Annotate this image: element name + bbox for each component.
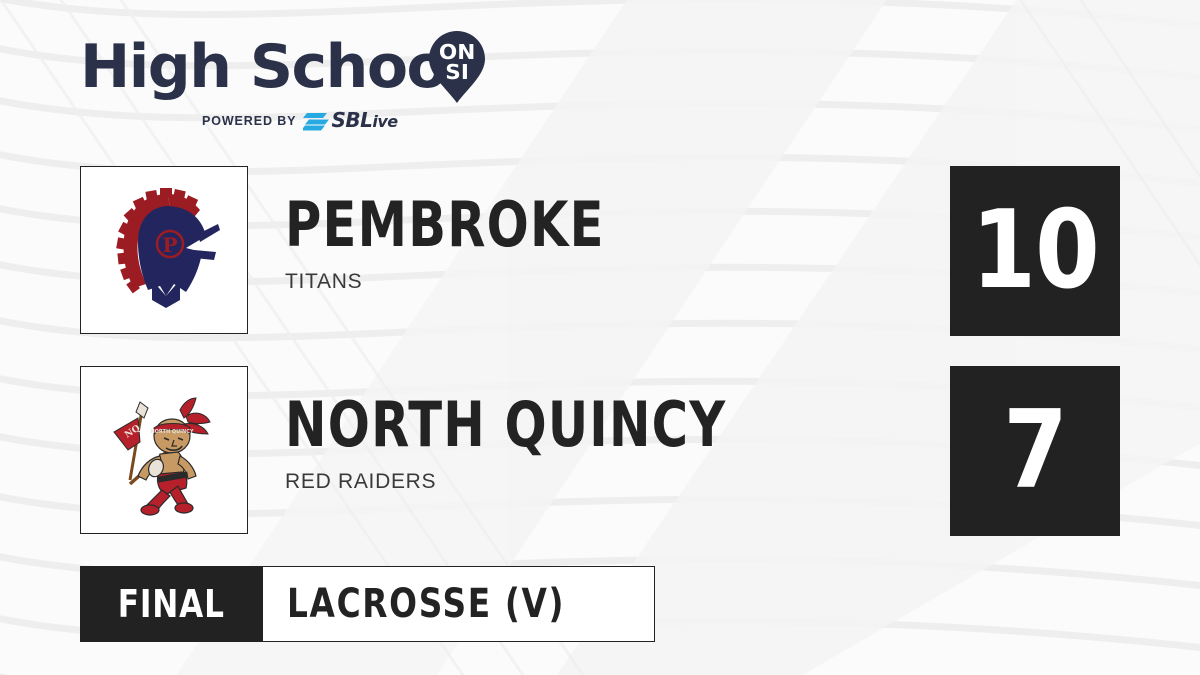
team-score: 10 <box>971 197 1099 305</box>
team-score-box: 10 <box>950 166 1120 336</box>
sblive-logo: SBLive <box>303 110 397 132</box>
team-text-block: PEMBROKE TITANS <box>285 194 925 294</box>
team-logo-box: NQ NORTH QUINCY <box>80 366 248 534</box>
powered-by-row: POWERED BY SBLive <box>202 110 398 132</box>
north-quincy-red-raiders-mascot-logo: NQ NORTH QUINCY <box>94 380 234 520</box>
scoreboard-graphic: High School ON SI POWERED BY SBLive <box>0 0 1200 675</box>
team-name: PEMBROKE <box>285 194 797 256</box>
svg-text:SI: SI <box>445 61 469 84</box>
on-si-pin-icon: ON SI <box>429 31 485 103</box>
sport-label-box: LACROSSE (V) <box>263 566 655 642</box>
team-score-box: 7 <box>950 366 1120 536</box>
sport-label: LACROSSE (V) <box>287 584 565 624</box>
pembroke-titans-helmet-logo: P <box>94 180 234 320</box>
team-text-block: NORTH QUINCY RED RAIDERS <box>285 394 925 494</box>
sblive-wordmark-lower: ive <box>372 112 397 131</box>
team-mascot: TITANS <box>285 270 925 294</box>
svg-text:NORTH QUINCY: NORTH QUINCY <box>150 429 193 435</box>
team-score: 7 <box>1003 397 1067 505</box>
team-mascot: RED RAIDERS <box>285 470 925 494</box>
brand-wordmark: High School <box>80 34 465 100</box>
svg-text:P: P <box>162 233 177 257</box>
team-logo-box: P <box>80 166 248 334</box>
game-status-bar: FINAL LACROSSE (V) <box>80 566 655 642</box>
powered-by-label: POWERED BY <box>202 114 296 128</box>
brand-logo: High School ON SI POWERED BY SBLive <box>80 34 510 134</box>
team-name: NORTH QUINCY <box>285 394 797 456</box>
game-state-badge: FINAL <box>80 566 263 642</box>
game-state-label: FINAL <box>118 585 225 623</box>
sblive-wordmark-upper: SBL <box>331 108 372 132</box>
sblive-wordmark: SBLive <box>331 110 397 132</box>
sblive-mark-icon <box>303 112 329 131</box>
